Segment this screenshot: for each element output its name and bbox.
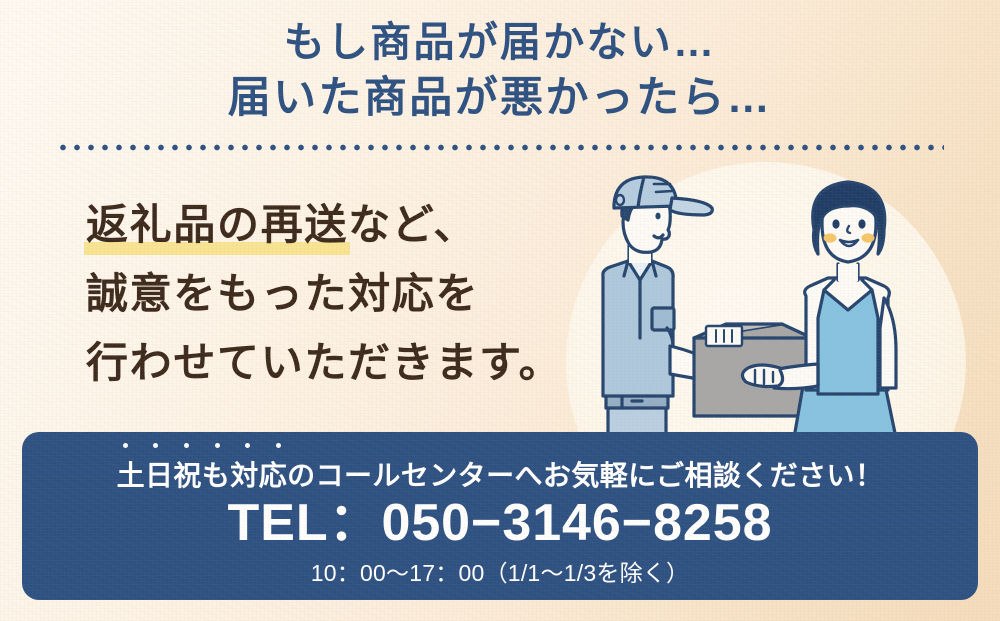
handoff-illustration [566, 168, 966, 438]
headline-line-1: もし商品が届かない… [0, 14, 1000, 70]
body-copy-block: 返礼品の再送など、 誠意をもった対応を 行わせていただきます。 [86, 190, 562, 397]
body-line-1-highlight: 返礼品の再送 [86, 190, 348, 259]
tel-label: TEL： [228, 494, 382, 552]
emphasis-dots [117, 443, 288, 448]
promo-banner: もし商品が届かない… 届いた商品が悪かったら… [0, 0, 1000, 621]
body-line-3: 行わせていただきます。 [86, 328, 562, 397]
dotted-divider [56, 143, 944, 152]
headline-block: もし商品が届かない… 届いた商品が悪かったら… [0, 14, 1000, 126]
call-center-lead-rest: のコールセンターへお気軽にご相談ください！ [287, 460, 883, 491]
telephone-line[interactable]: TEL：050−3146−8258 [22, 492, 978, 554]
emphasized-phrase-text: 土日祝も対応 [117, 460, 288, 491]
body-line-1-rest: など、 [348, 201, 477, 248]
body-line-1: 返礼品の再送など、 [86, 190, 562, 259]
contact-panel: 土日祝も対応のコールセンターへお気軽にご相談ください！ TEL：050−3146… [22, 432, 978, 600]
headline-line-2: 届いた商品が悪かったら… [0, 70, 1000, 126]
business-hours: 10：00〜17：00（1/1〜1/3を除く） [22, 558, 978, 588]
body-line-2: 誠意をもった対応を [86, 259, 562, 328]
tel-number[interactable]: 050−3146−8258 [381, 494, 772, 552]
call-center-lead-text: 土日祝も対応のコールセンターへお気軽にご相談ください！ [22, 458, 978, 494]
emphasized-phrase: 土日祝も対応 [117, 458, 288, 494]
